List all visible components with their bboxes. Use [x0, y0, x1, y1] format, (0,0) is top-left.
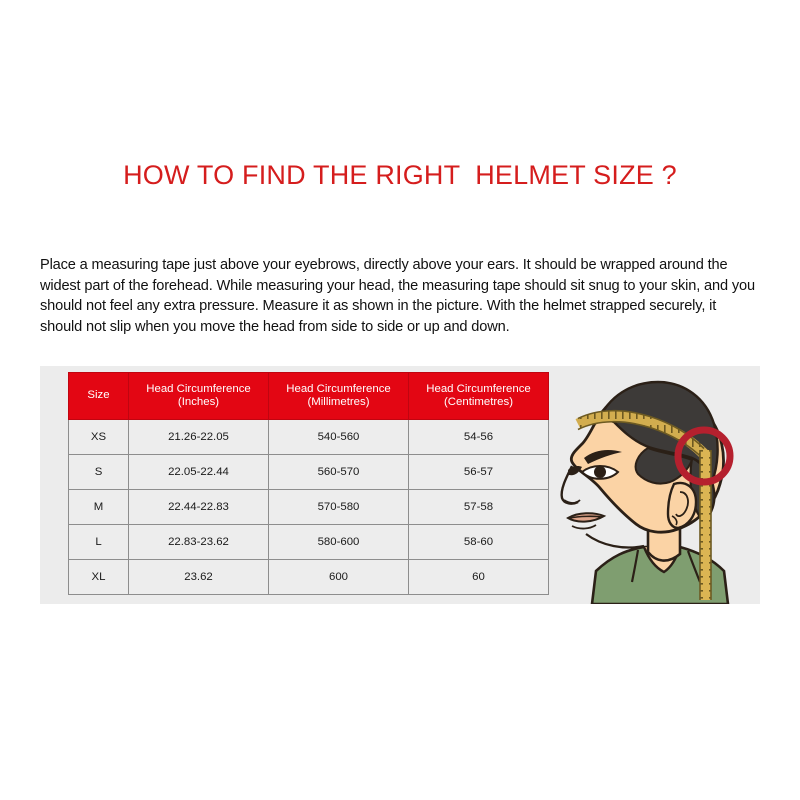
cell-size: M — [69, 490, 129, 525]
cell-centimetres: 57-58 — [409, 490, 549, 525]
column-header-centimetres: Head Circumference (Centimetres) — [409, 373, 549, 420]
column-header-inches-line1: Head Circumference — [146, 383, 250, 395]
cell-inches: 23.62 — [129, 560, 269, 595]
column-header-inches-line2: (Inches) — [178, 396, 219, 408]
table-row: S 22.05-22.44 560-570 56-57 — [69, 455, 549, 490]
table-row: M 22.44-22.83 570-580 57-58 — [69, 490, 549, 525]
table-row: XL 23.62 600 60 — [69, 560, 549, 595]
cell-centimetres: 54-56 — [409, 420, 549, 455]
cell-millimetres: 580-600 — [269, 525, 409, 560]
cell-size: XS — [69, 420, 129, 455]
size-chart-table: Size Head Circumference (Inches) Head Ci… — [68, 372, 549, 595]
cell-millimetres: 540-560 — [269, 420, 409, 455]
table-row: XS 21.26-22.05 540-560 54-56 — [69, 420, 549, 455]
cell-centimetres: 56-57 — [409, 455, 549, 490]
cell-millimetres: 600 — [269, 560, 409, 595]
cell-millimetres: 570-580 — [269, 490, 409, 525]
column-header-millimetres-line2: (Millimetres) — [307, 396, 369, 408]
column-header-size-line1: Size — [87, 389, 109, 401]
column-header-millimetres-line1: Head Circumference — [286, 383, 390, 395]
cell-millimetres: 560-570 — [269, 455, 409, 490]
column-header-inches: Head Circumference (Inches) — [129, 373, 269, 420]
page-title: HOW TO FIND THE RIGHT HELMET SIZE ? — [0, 160, 800, 191]
cell-centimetres: 60 — [409, 560, 549, 595]
column-header-size: Size — [69, 373, 129, 420]
cell-inches: 22.83-23.62 — [129, 525, 269, 560]
cell-centimetres: 58-60 — [409, 525, 549, 560]
cell-inches: 21.26-22.05 — [129, 420, 269, 455]
column-header-centimetres-line2: (Centimetres) — [444, 396, 513, 408]
column-header-millimetres: Head Circumference (Millimetres) — [269, 373, 409, 420]
table-row: L 22.83-23.62 580-600 58-60 — [69, 525, 549, 560]
cell-inches: 22.05-22.44 — [129, 455, 269, 490]
intro-paragraph: Place a measuring tape just above your e… — [40, 255, 762, 337]
cell-size: L — [69, 525, 129, 560]
head-measurement-illustration — [552, 366, 760, 604]
cell-size: XL — [69, 560, 129, 595]
cell-size: S — [69, 455, 129, 490]
column-header-centimetres-line1: Head Circumference — [426, 383, 530, 395]
table-header-row: Size Head Circumference (Inches) Head Ci… — [69, 373, 549, 420]
cell-inches: 22.44-22.83 — [129, 490, 269, 525]
